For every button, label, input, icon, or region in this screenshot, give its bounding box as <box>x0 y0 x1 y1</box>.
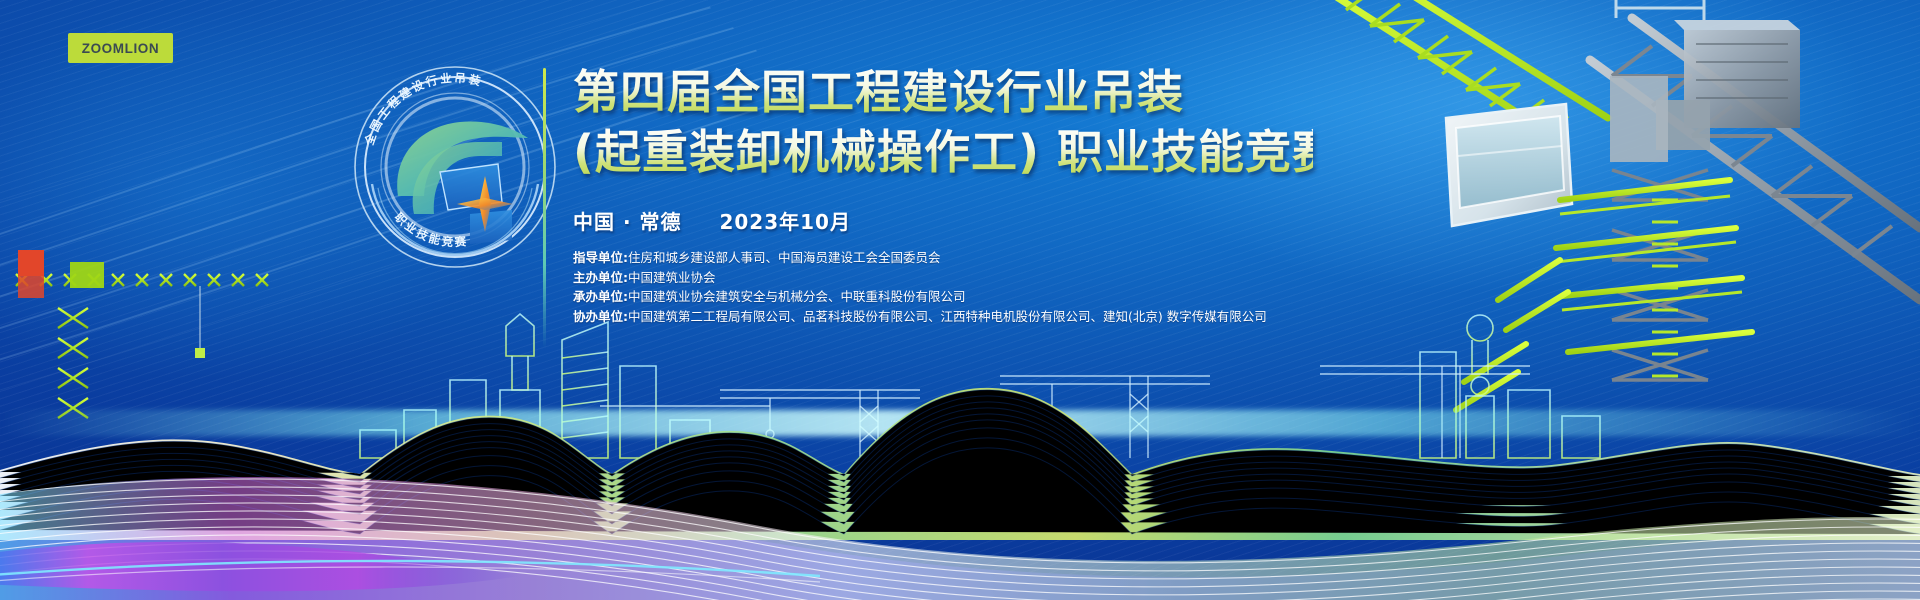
event-location: 中国 · 常德 <box>573 210 682 234</box>
zoomlion-logo: ZOOMLION <box>68 33 173 63</box>
organization-label: 指导单位: <box>573 248 628 268</box>
organization-value: 住房和城乡建设部人事司、中国海员建设工会全国委员会 <box>628 248 941 268</box>
event-location-date: 中国 · 常德 2023年10月 <box>573 206 1313 235</box>
title-line-2: (起重装卸机械操作工) 职业技能竞赛 <box>573 124 1313 180</box>
banner-canvas: ZOOMLION <box>0 0 1920 600</box>
zoomlion-logo-text: ZOOMLION <box>82 41 160 56</box>
emblem-ring-text-bottom: 职业技能竞赛 <box>392 210 469 250</box>
competition-emblem: 全国工程建设行业吊装 职业技能竞赛 <box>352 64 558 270</box>
organization-row-guidance: 指导单位: 住房和城乡建设部人事司、中国海员建设工会全国委员会 <box>573 248 1313 268</box>
wave-decoration <box>0 340 1920 600</box>
event-date: 2023年10月 <box>719 210 851 234</box>
title-line-1: 第四届全国工程建设行业吊装 <box>573 64 1313 120</box>
